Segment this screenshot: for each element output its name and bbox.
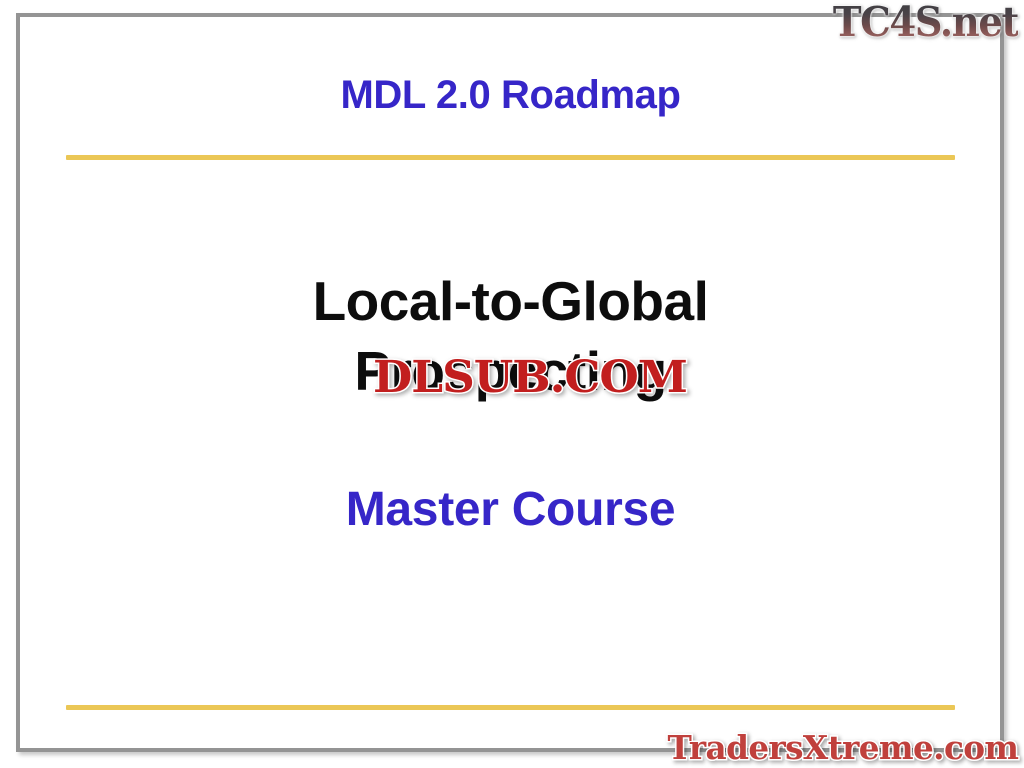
presentation-slide: MDL 2.0 Roadmap Local-to-Global Prospect… [0, 0, 1024, 768]
slide-subheading: Master Course [66, 482, 955, 537]
divider-rule-bottom [66, 705, 955, 710]
divider-rule-top [66, 155, 955, 160]
watermark-tradersxtreme: TradersXtreme.com [667, 731, 1018, 764]
watermark-tc4s: TC4S.net [833, 2, 1018, 43]
slide-title: MDL 2.0 Roadmap [66, 73, 955, 117]
headline-line-1: Local-to-Global [66, 266, 955, 336]
watermark-dlsub: DLSUB.COM [373, 356, 687, 400]
